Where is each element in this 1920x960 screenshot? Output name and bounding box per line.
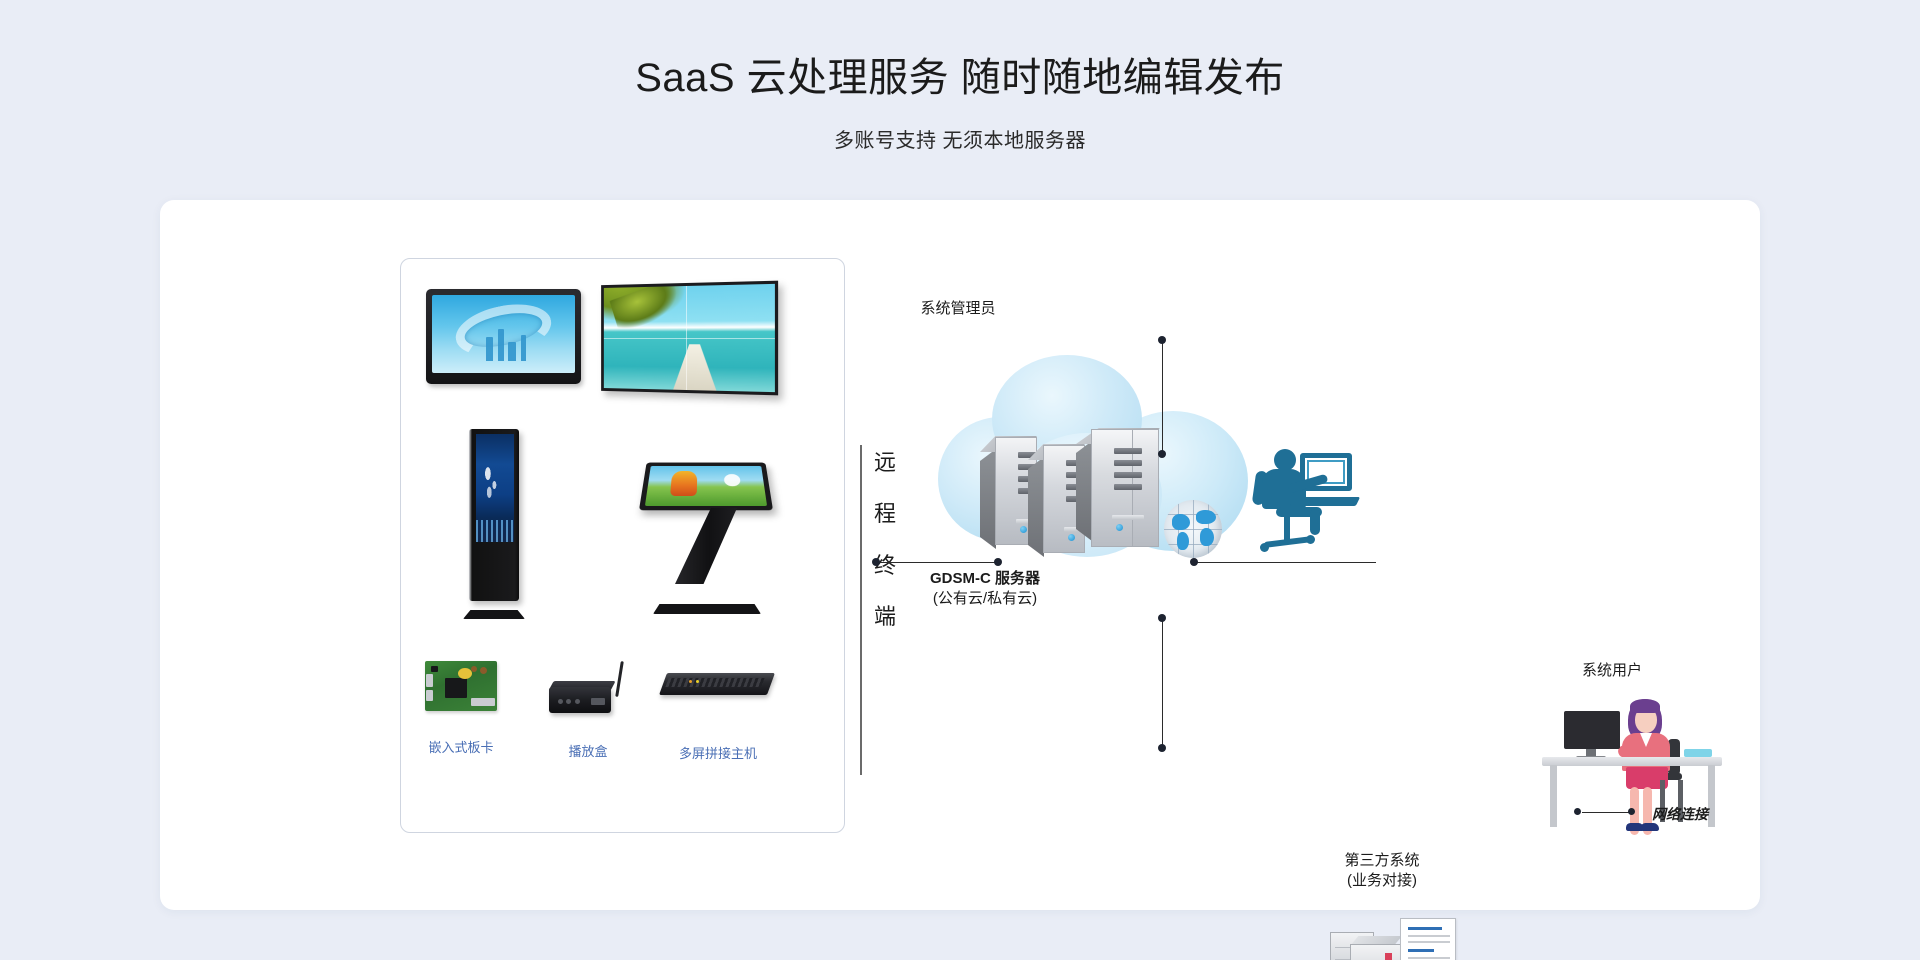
legend-line (1582, 812, 1630, 813)
page-root: SaaS 云处理服务 随时随地编辑发布 多账号支持 无须本地服务器 (0, 0, 1920, 960)
gdsm-c-server-label: GDSM-C 服务器 (860, 568, 1110, 590)
multi-screen-host-label: 多屏拼接主机 (663, 743, 773, 762)
node-admin (1158, 336, 1166, 344)
system-administrator-label: 系统管理员 (878, 298, 1038, 320)
system-administrator-icon (1252, 445, 1372, 575)
node-third-party (1158, 744, 1166, 752)
link-cloud-to-third-party (1162, 618, 1163, 748)
link-admin-to-cloud (1162, 340, 1163, 456)
legend-node-right (1628, 808, 1635, 815)
floor-standing-kiosk-icon (463, 429, 525, 619)
gdsm-c-server-sublabel: (公有云/私有云) (860, 588, 1110, 610)
gdsm-c-server-icon (980, 415, 1190, 555)
page-header: SaaS 云处理服务 随时随地编辑发布 多账号支持 无须本地服务器 (0, 0, 1920, 153)
remote-terminal-bracket (860, 445, 862, 775)
wall-mounted-lcd-icon (426, 289, 581, 384)
node-cloud-top (1158, 450, 1166, 458)
player-box-item: 播放盒 (549, 665, 627, 713)
diagram-card: 嵌入式板卡 播放盒 (160, 200, 1760, 910)
link-cloud-to-user (1194, 562, 1376, 563)
page-title: SaaS 云处理服务 随时随地编辑发布 (0, 54, 1920, 102)
remote-terminal-device-panel: 嵌入式板卡 播放盒 (400, 258, 845, 833)
node-cloud-bottom (1158, 614, 1166, 622)
node-terminals (872, 558, 880, 566)
video-wall-icon (596, 283, 776, 393)
link-terminals-to-cloud (876, 562, 998, 563)
touch-table-kiosk-icon (641, 454, 771, 614)
embedded-board-item: 嵌入式板卡 (425, 661, 497, 711)
third-party-system-icon (1322, 918, 1442, 960)
vlabel-char-2: 程 (874, 503, 896, 525)
document-icon (1400, 918, 1456, 960)
page-subtitle: 多账号支持 无须本地服务器 (0, 124, 1920, 153)
legend-node-left (1574, 808, 1581, 815)
third-party-system-label: 第三方系统 (1262, 850, 1502, 872)
player-box-label: 播放盒 (549, 741, 627, 760)
legend-label: 网络连接 (1652, 804, 1708, 824)
globe-icon (1164, 500, 1222, 558)
node-cloud-left (994, 558, 1002, 566)
node-cloud-right (1190, 558, 1198, 566)
vlabel-char-1: 远 (874, 452, 896, 474)
multi-screen-host-item: 多屏拼接主机 (663, 667, 773, 711)
embedded-board-label: 嵌入式板卡 (425, 737, 497, 756)
system-user-label: 系统用户 (1512, 660, 1712, 682)
hardware-row: 嵌入式板卡 播放盒 (401, 651, 844, 781)
third-party-system-sublabel: (业务对接) (1262, 870, 1502, 892)
